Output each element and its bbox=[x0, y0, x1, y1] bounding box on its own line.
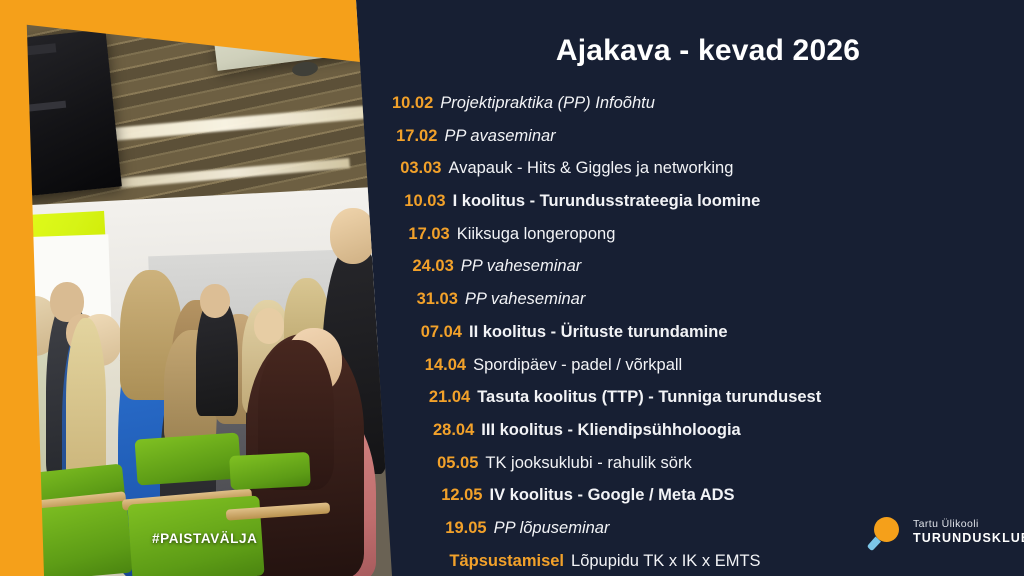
schedule-row-label: I koolitus - Turundusstrateegia loomine bbox=[453, 192, 761, 211]
schedule-row-label: IV koolitus - Google / Meta ADS bbox=[489, 486, 734, 505]
schedule-row-date: 14.04 bbox=[425, 356, 466, 375]
schedule-row-label: Kiiksuga longeropong bbox=[457, 225, 616, 244]
schedule-row-date: 10.03 bbox=[404, 192, 445, 211]
person-head bbox=[254, 308, 284, 344]
schedule-row-label: Spordipäev - padel / võrkpall bbox=[473, 356, 682, 375]
schedule-row: TäpsustamiselLõpupidu TK x IK x EMTS bbox=[384, 552, 1024, 576]
schedule-row-date: 21.04 bbox=[429, 388, 470, 407]
schedule-row-label: PP lõpuseminar bbox=[494, 519, 610, 538]
schedule-row: 28.04III koolitus - Kliendipsühholoogia bbox=[384, 421, 1024, 454]
schedule-row-date: 05.05 bbox=[437, 454, 478, 473]
logo-line-1: Tartu Ülikooli bbox=[913, 518, 1024, 530]
schedule-row-date: 31.03 bbox=[417, 290, 458, 309]
schedule-row-date: 28.04 bbox=[433, 421, 474, 440]
schedule-row-date: 12.05 bbox=[441, 486, 482, 505]
schedule-row: 31.03PP vaheseminar bbox=[384, 290, 1024, 323]
schedule-row-date: Täpsustamisel bbox=[449, 552, 564, 571]
schedule-row-label: Projektipraktika (PP) Infoõhtu bbox=[440, 94, 655, 113]
lecture-hall-chairs bbox=[0, 432, 392, 576]
hashtag-overlay: #PAISTAVÄLJA bbox=[152, 531, 257, 546]
logo-text: Tartu Ülikooli TURUNDUSKLUBI bbox=[913, 518, 1024, 545]
logo-line-2: TURUNDUSKLUBI bbox=[913, 531, 1024, 546]
schedule-list: 10.02Projektipraktika (PP) Infoõhtu17.02… bbox=[384, 94, 1024, 576]
slide-root: #PAISTAVÄLJA Ajakava - kevad 2026 10.02P… bbox=[0, 0, 1024, 576]
schedule-row: 05.05TK jooksuklubi - rahulik sörk bbox=[384, 454, 1024, 487]
schedule-row-date: 07.04 bbox=[421, 323, 462, 342]
schedule-row: 17.03Kiiksuga longeropong bbox=[384, 225, 1024, 258]
schedule-row-date: 17.03 bbox=[408, 225, 449, 244]
chair bbox=[229, 452, 311, 490]
page-title: Ajakava - kevad 2026 bbox=[392, 34, 1024, 68]
schedule-row-date: 03.03 bbox=[400, 159, 441, 178]
schedule-row: 24.03PP vaheseminar bbox=[384, 257, 1024, 290]
schedule-row: 17.02PP avaseminar bbox=[384, 127, 1024, 160]
schedule-row-date: 10.02 bbox=[392, 94, 433, 113]
photo-scene: #PAISTAVÄLJA bbox=[0, 0, 392, 576]
schedule-row-date: 24.03 bbox=[413, 257, 454, 276]
schedule-row: 21.04Tasuta koolitus (TTP) - Tunniga tur… bbox=[384, 388, 1024, 421]
schedule-row-label: II koolitus - Ürituste turundamine bbox=[469, 323, 728, 342]
schedule-row-label: Avapauk - Hits & Giggles ja networking bbox=[448, 159, 733, 178]
schedule-row: 10.02Projektipraktika (PP) Infoõhtu bbox=[384, 94, 1024, 127]
schedule-row: 14.04Spordipäev - padel / võrkpall bbox=[384, 356, 1024, 389]
person-head bbox=[200, 284, 230, 318]
schedule-row-date: 19.05 bbox=[445, 519, 486, 538]
schedule-row-label: Lõpupidu TK x IK x EMTS bbox=[571, 552, 761, 571]
chair bbox=[135, 432, 242, 485]
schedule-row: 03.03Avapauk - Hits & Giggles ja network… bbox=[384, 159, 1024, 192]
schedule-row-label: III koolitus - Kliendipsühholoogia bbox=[481, 421, 740, 440]
schedule-row: 07.04II koolitus - Ürituste turundamine bbox=[384, 323, 1024, 356]
brand-logo: Tartu Ülikooli TURUNDUSKLUBI bbox=[862, 511, 1024, 553]
schedule-row-label: Tasuta koolitus (TTP) - Tunniga turundus… bbox=[477, 388, 821, 407]
schedule-row-date: 17.02 bbox=[396, 127, 437, 146]
megaphone-icon bbox=[862, 511, 904, 553]
schedule-row-label: PP vaheseminar bbox=[465, 290, 585, 309]
person-hair bbox=[326, 198, 380, 266]
schedule-row: 10.03I koolitus - Turundusstrateegia loo… bbox=[384, 192, 1024, 225]
schedule-row-label: PP avaseminar bbox=[444, 127, 555, 146]
event-photo: #PAISTAVÄLJA bbox=[0, 0, 392, 576]
schedule-row-label: TK jooksuklubi - rahulik sörk bbox=[485, 454, 691, 473]
schedule-row-label: PP vaheseminar bbox=[461, 257, 581, 276]
